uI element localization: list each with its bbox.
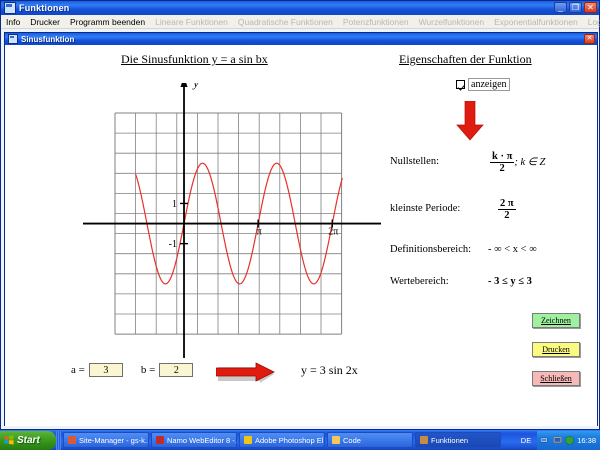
svg-text:y: y: [192, 83, 199, 90]
left-panel-heading: Die Sinusfunktion y = a sin bx: [121, 52, 268, 67]
system-tray: 16:38: [537, 431, 600, 450]
param-a-input[interactable]: 3: [89, 363, 123, 377]
start-button[interactable]: Start: [0, 431, 56, 450]
property-label-periode: kleinste Periode:: [390, 203, 460, 214]
property-value-nullstellen: k · π 2 ; k ∈ Z: [490, 151, 545, 174]
taskbar-item-label: Namo WebEditor 8 -...: [167, 436, 237, 445]
param-a-label: a =: [71, 364, 85, 376]
child-window-titlebar[interactable]: Sinusfunktion ✕: [5, 33, 597, 45]
parameter-row: a = 3 b = 2: [71, 363, 193, 377]
clock[interactable]: 16:38: [577, 436, 596, 445]
property-label-nullstellen: Nullstellen:: [390, 156, 439, 167]
child-window-title: Sinusfunktion: [21, 35, 74, 44]
menu-item-logarithmusfunktionen: Logarithmusfunktionen: [583, 17, 600, 27]
network-icon[interactable]: [541, 436, 550, 445]
menu-item-info[interactable]: Info: [1, 17, 25, 27]
svg-text:π: π: [257, 227, 262, 238]
shield-icon[interactable]: [565, 436, 574, 445]
fraction-denominator: 2: [490, 163, 514, 174]
menu-item-lineare-funktionen: Lineare Funktionen: [150, 17, 233, 27]
taskbar-item-icon: [420, 436, 428, 444]
taskbar-item-label: Funktionen: [431, 436, 468, 445]
taskbar: Start Site-Manager - gs-k...Namo WebEdit…: [0, 430, 600, 450]
taskbar-item-funktionen[interactable]: Funktionen: [415, 432, 501, 448]
property-value-wertebereich: - 3 ≤ y ≤ 3: [488, 276, 532, 287]
application-window: Funktionen _ ❐ ✕ InfoDruckerProgramm bee…: [0, 0, 600, 430]
drucken-button-label: Drucken: [542, 345, 570, 354]
property-label-wertebereich: Wertebereich:: [390, 276, 449, 287]
menu-bar: InfoDruckerProgramm beendenLineare Funkt…: [1, 15, 599, 29]
zeichnen-button[interactable]: Zeichnen: [532, 313, 580, 328]
taskbar-item-icon: [332, 436, 340, 444]
fraction-numerator: 2 π: [498, 198, 516, 210]
fraction-nullstellen: k · π 2: [490, 151, 514, 174]
schliessen-button-label: Schließen: [540, 374, 572, 383]
red-down-arrow-icon: [456, 101, 484, 141]
anzeigen-checkbox-label: anzeigen: [468, 78, 510, 91]
menu-item-drucker[interactable]: Drucker: [25, 17, 65, 27]
anzeigen-checkbox[interactable]: [456, 80, 465, 89]
red-right-arrow-icon: [216, 361, 286, 383]
fraction-denominator: 2: [498, 210, 516, 221]
language-indicator[interactable]: DE: [515, 436, 537, 445]
window-controls: _ ❐ ✕: [554, 2, 597, 13]
taskbar-item-label: Code: [343, 436, 361, 445]
property-label-definitionsbereich: Definitionsbereich:: [390, 244, 471, 255]
property-suffix-nullstellen: ; k ∈ Z: [514, 157, 545, 168]
anzeigen-checkbox-row[interactable]: anzeigen: [456, 78, 510, 91]
minimize-button[interactable]: _: [554, 2, 567, 13]
taskbar-item-icon: [244, 436, 252, 444]
taskbar-item-label: Site-Manager - gs-k...: [79, 436, 149, 445]
restore-button[interactable]: ❐: [569, 2, 582, 13]
window-titlebar[interactable]: Funktionen _ ❐ ✕: [1, 1, 599, 15]
screen: Funktionen _ ❐ ✕ InfoDruckerProgramm bee…: [0, 0, 600, 450]
svg-text:2π: 2π: [328, 227, 338, 238]
taskbar-item-icon: [156, 436, 164, 444]
taskbar-item-label: Adobe Photoshop El...: [255, 436, 325, 445]
taskbar-items: Site-Manager - gs-k...Namo WebEditor 8 -…: [61, 431, 515, 450]
right-panel-heading: Eigenschaften der Funktion: [399, 52, 532, 67]
taskbar-item-code[interactable]: Code: [327, 432, 413, 448]
fraction-numerator: k · π: [490, 151, 514, 163]
window-title: Funktionen: [19, 3, 70, 13]
param-b-label: b =: [141, 364, 155, 376]
taskbar-item-icon: [68, 436, 76, 444]
zeichnen-button-label: Zeichnen: [541, 316, 571, 325]
result-equation: y = 3 sin 2x: [301, 363, 358, 378]
child-window-icon: [8, 34, 18, 44]
child-window-close-button[interactable]: ✕: [584, 34, 595, 44]
taskbar-item-site-manager-gs-k[interactable]: Site-Manager - gs-k...: [63, 432, 149, 448]
property-value-definitionsbereich: - ∞ < x < ∞: [488, 244, 537, 255]
svg-text:-1: -1: [169, 239, 177, 250]
menu-item-programm-beenden[interactable]: Programm beenden: [65, 17, 150, 27]
schliessen-button[interactable]: Schließen: [532, 371, 580, 386]
menu-item-exponentialfunktionen: Exponentialfunktionen: [489, 17, 583, 27]
property-value-periode: 2 π 2: [498, 198, 516, 221]
monitor-icon[interactable]: [553, 436, 562, 445]
app-icon: [4, 2, 16, 14]
drucken-button[interactable]: Drucken: [532, 342, 580, 357]
function-graph: 1-1π2πyx: [61, 83, 381, 358]
menu-item-potenzfunktionen: Potenzfunktionen: [338, 17, 414, 27]
close-button[interactable]: ✕: [584, 2, 597, 13]
windows-logo-icon: [4, 435, 14, 445]
start-button-label: Start: [17, 435, 40, 446]
menu-item-wurzelfunktionen: Wurzelfunktionen: [414, 17, 490, 27]
fraction-periode: 2 π 2: [498, 198, 516, 221]
param-b-input[interactable]: 2: [159, 363, 193, 377]
taskbar-item-adobe-photoshop-el[interactable]: Adobe Photoshop El...: [239, 432, 325, 448]
menu-item-quadratische-funktionen: Quadratische Funktionen: [233, 17, 338, 27]
taskbar-item-namo-webeditor-8[interactable]: Namo WebEditor 8 -...: [151, 432, 237, 448]
svg-text:1: 1: [172, 199, 177, 210]
